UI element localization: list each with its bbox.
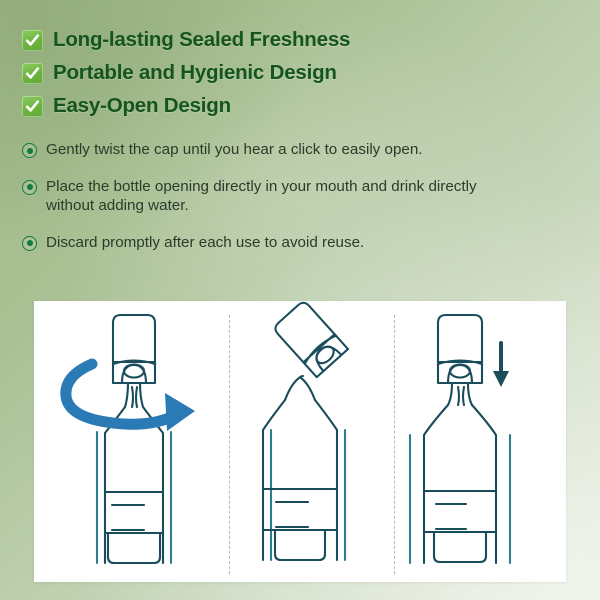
replace-cap-step xyxy=(394,301,566,582)
radio-dot-icon xyxy=(22,180,37,195)
feature-item: Portable and Hygienic Design xyxy=(22,57,542,89)
instruction-item: Gently twist the cap until you hear a cl… xyxy=(22,140,537,160)
down-arrow-icon xyxy=(493,343,509,387)
remove-cap-step xyxy=(229,301,394,582)
instruction-text: Discard promptly after each use to avoid… xyxy=(46,233,364,253)
radio-dot-icon xyxy=(22,143,37,158)
check-square-icon xyxy=(22,63,43,84)
feature-label: Easy-Open Design xyxy=(53,94,231,118)
feature-item: Long-lasting Sealed Freshness xyxy=(22,24,542,56)
instruction-list: Gently twist the cap until you hear a cl… xyxy=(22,140,537,252)
feature-list: Long-lasting Sealed Freshness Portable a… xyxy=(22,24,542,123)
instruction-text: Gently twist the cap until you hear a cl… xyxy=(46,140,423,160)
feature-label: Long-lasting Sealed Freshness xyxy=(53,28,350,52)
instruction-item: Discard promptly after each use to avoid… xyxy=(22,233,537,253)
radio-dot-icon xyxy=(22,236,37,251)
rotate-arrow-icon xyxy=(66,364,195,431)
instruction-text: Place the bottle opening directly in you… xyxy=(46,177,501,216)
instruction-item: Place the bottle opening directly in you… xyxy=(22,177,537,216)
twist-cap-step xyxy=(34,301,229,582)
check-square-icon xyxy=(22,96,43,117)
illustration-panel xyxy=(34,301,566,582)
feature-label: Portable and Hygienic Design xyxy=(53,61,337,85)
feature-item: Easy-Open Design xyxy=(22,90,542,122)
check-square-icon xyxy=(22,30,43,51)
